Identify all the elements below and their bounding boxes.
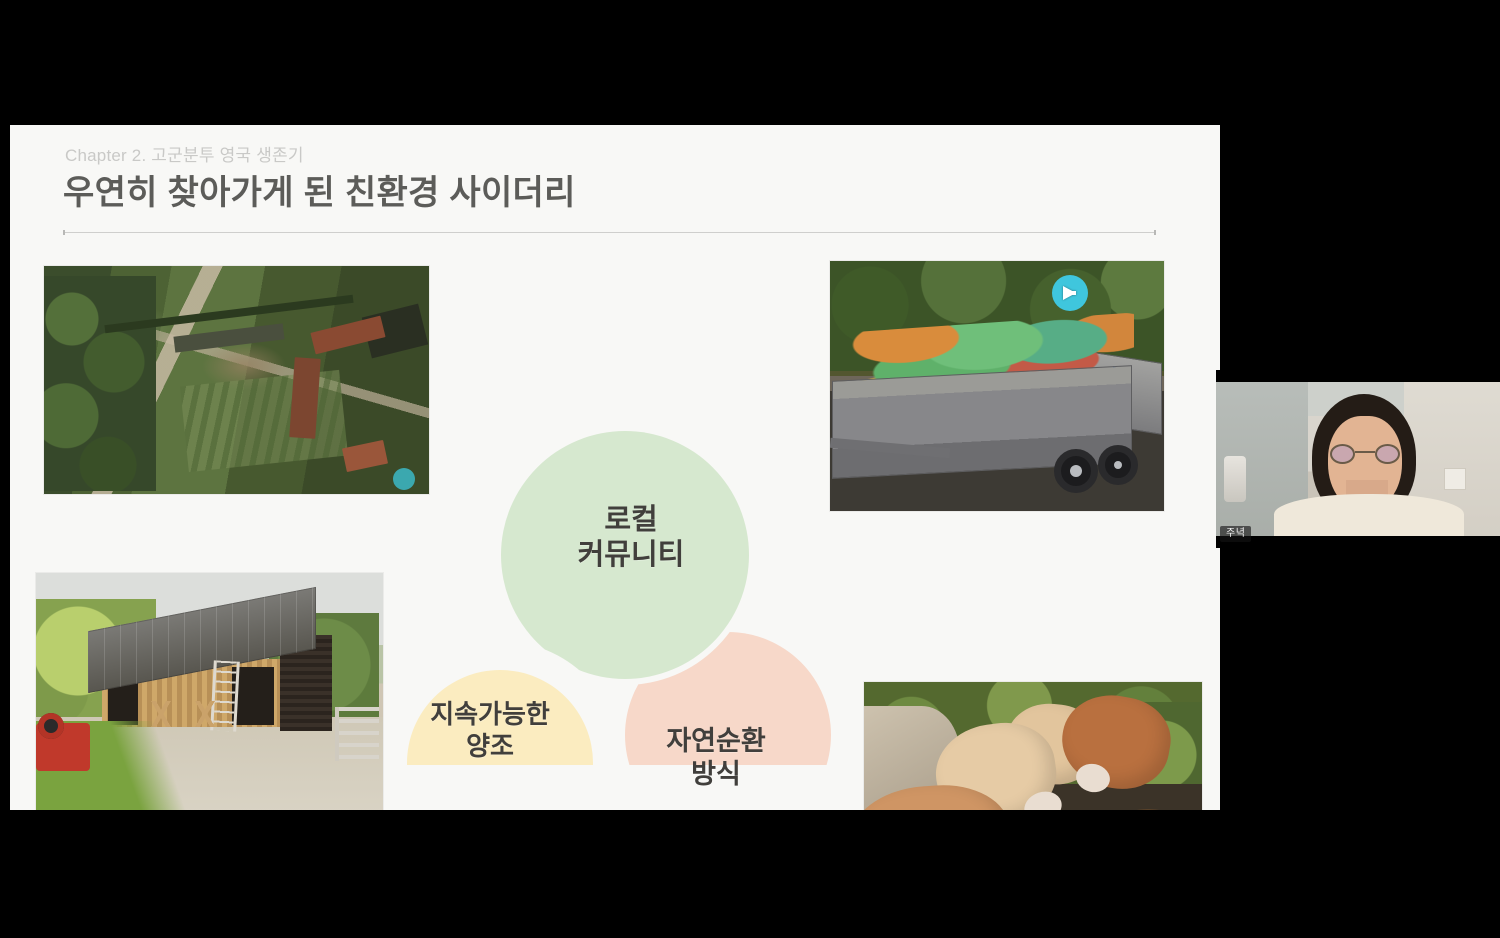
light-switch (1444, 468, 1466, 490)
lens-bridge (1355, 451, 1375, 453)
trailer-wheel-front (1054, 449, 1098, 493)
lens-right (1375, 444, 1400, 464)
eyeglasses-icon (1330, 444, 1400, 464)
arrow-glyph (1063, 286, 1076, 300)
circle-green-label: 로컬 커뮤니티 (536, 503, 726, 574)
three-circle-diagram: 로컬 커뮤니티 지속가능한 양조 자연순환 방식 (390, 325, 850, 765)
trailer-wheel-rear (1098, 445, 1138, 485)
lens-left (1330, 444, 1355, 464)
photo-apple-trailer (830, 261, 1164, 511)
photo-pigs-pomace-image (864, 682, 1202, 810)
photo-timber-barn-image (36, 573, 383, 810)
participant-name-label: 주녁 (1220, 526, 1251, 542)
metal-gate (335, 707, 379, 761)
chapter-label: Chapter 2. 고군분투 영국 생존기 (65, 141, 304, 166)
photo-timber-barn (36, 573, 383, 810)
photo-apple-trailer-image (830, 261, 1164, 511)
red-roof-b (289, 357, 321, 439)
screen-share-view: Chapter 2. 고군분투 영국 생존기 우연히 찾아가게 된 친환경 사이… (0, 0, 1500, 938)
wall-fixture (1224, 456, 1246, 502)
title-divider (63, 232, 1156, 233)
long-shed (173, 323, 284, 352)
red-roof-c (342, 440, 388, 472)
participant-shirt (1274, 494, 1464, 536)
video-participant-tile[interactable]: 주녁 (1216, 370, 1500, 548)
tree-line (44, 276, 156, 491)
cursor-arrow-icon[interactable] (1052, 275, 1088, 311)
presentation-slide[interactable]: Chapter 2. 고군분투 영국 생존기 우연히 찾아가게 된 친환경 사이… (10, 125, 1220, 810)
photo-aerial-farm (44, 266, 429, 494)
photo-pigs-pomace (864, 682, 1202, 810)
circle-yellow-label: 지속가능한 양조 (392, 699, 588, 762)
circle-pink-label: 자연순환 방식 (622, 725, 810, 791)
red-tractor (36, 723, 90, 771)
participant-video-feed (1216, 382, 1500, 536)
photo-aerial-farm-image (44, 266, 429, 494)
page-title: 우연히 찾아가게 된 친환경 사이더리 (63, 165, 576, 214)
orchard-plot (180, 370, 348, 472)
